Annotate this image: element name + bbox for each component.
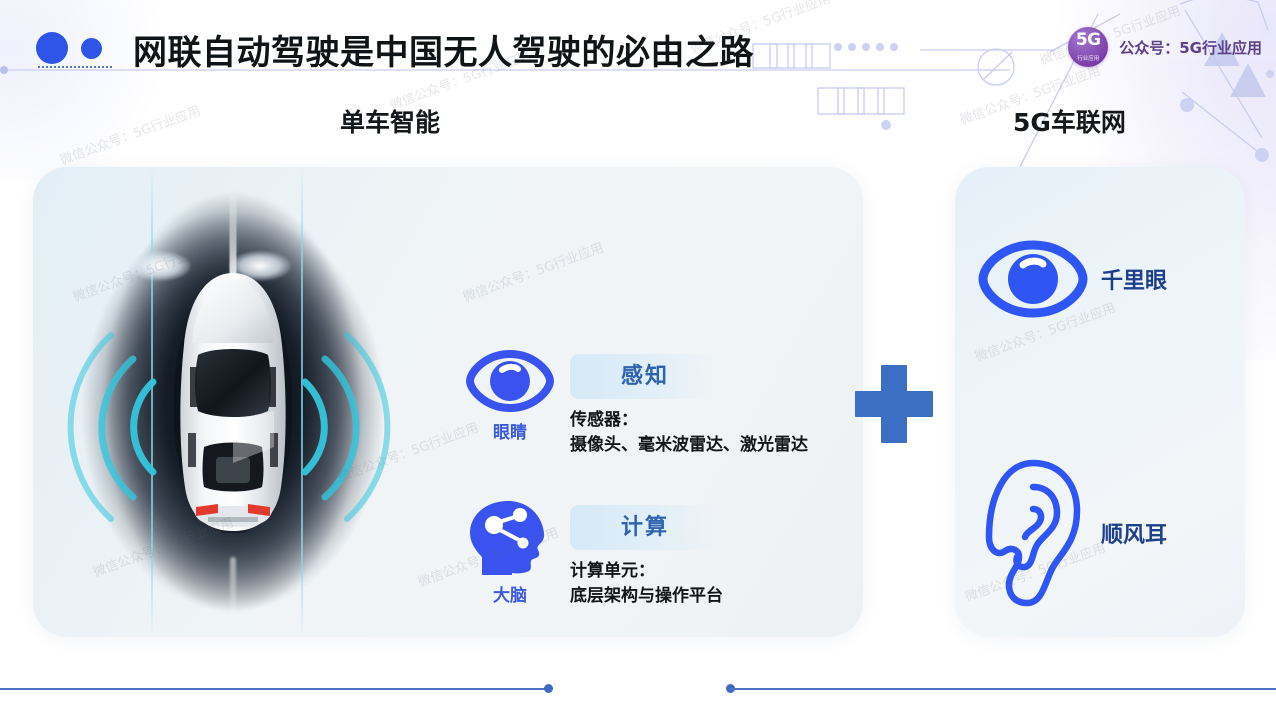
left-column-heading: 单车智能 [340, 103, 440, 139]
feature-line-2: 底层架构与操作平台 [570, 584, 863, 609]
car-illustration [33, 167, 433, 637]
feature-body: 感知 传感器： 摄像头、毫米波雷达、激光雷达 [570, 354, 863, 458]
page-title: 网联自动驾驶是中国无人驾驶的必由之路 [133, 25, 754, 74]
single-vehicle-intelligence-panel: 眼睛 感知 传感器： 摄像头、毫米波雷达、激光雷达 [33, 167, 863, 637]
feature-line-1: 计算单元： [570, 559, 863, 584]
wechat-account-text: 公众号：5G行业应用 [1119, 37, 1262, 58]
right-item-clairvoyance: 千里眼 [977, 237, 1167, 321]
feature-icon-label: 眼睛 [458, 418, 562, 443]
plus-operator [855, 365, 933, 443]
5g-logo-main: 5G [1068, 32, 1108, 49]
bullet-dot-small [81, 38, 102, 59]
eye-icon [466, 348, 554, 414]
feature-icon-block: 大脑 [458, 499, 562, 606]
bottom-rule-dot-left [544, 684, 553, 693]
bottom-rule-left [0, 688, 548, 690]
feature-list: 眼睛 感知 传感器： 摄像头、毫米波雷达、激光雷达 [458, 348, 863, 637]
bottom-rule-right [730, 688, 1276, 690]
eye-icon [977, 237, 1089, 321]
feature-row-compute: 大脑 计算 计算单元： 底层架构与操作平台 [458, 499, 863, 637]
ear-icon [977, 457, 1089, 609]
right-item-clairaudience: 顺风耳 [977, 457, 1167, 609]
feature-line-2: 摄像头、毫米波雷达、激光雷达 [570, 433, 863, 458]
car-top-view [174, 271, 292, 533]
feature-badge: 感知 [570, 354, 720, 399]
right-column-heading: 5G车联网 [1013, 103, 1126, 139]
5g-logo-sub: 行业应用 [1068, 57, 1108, 63]
feature-row-perception: 眼睛 感知 传感器： 摄像头、毫米波雷达、激光雷达 [458, 348, 863, 499]
watermark: 微信公众号：5G行业应用 [460, 237, 606, 306]
slide-root: 网联自动驾驶是中国无人驾驶的必由之路 5G 行业应用 公众号：5G行业应用 单车… [0, 0, 1276, 718]
watermark: 微信公众号：5G行业应用 [57, 100, 203, 169]
5g-logo-icon: 5G 行业应用 [1068, 27, 1108, 67]
feature-line-1: 传感器： [570, 408, 863, 433]
wechat-account-badge: 5G 行业应用 公众号：5G行业应用 [1068, 27, 1262, 67]
feature-badge: 计算 [570, 505, 720, 550]
right-item-label: 顺风耳 [1101, 517, 1167, 549]
plus-bar-vertical [881, 365, 907, 443]
feature-icon-block: 眼睛 [458, 348, 562, 443]
v2x-network-panel: 千里眼 顺风耳 微信公众号：5G行业应用 微信公众号：5G行业应用 [955, 167, 1245, 637]
feature-icon-label: 大脑 [458, 581, 562, 606]
bullet-underline [38, 66, 112, 68]
right-item-label: 千里眼 [1101, 263, 1167, 295]
slide-header: 网联自动驾驶是中国无人驾驶的必由之路 5G 行业应用 公众号：5G行业应用 [0, 0, 1276, 95]
title-bullet-dots [36, 32, 102, 64]
brain-head-icon [468, 499, 552, 577]
bullet-dot-large [36, 32, 68, 64]
feature-body: 计算 计算单元： 底层架构与操作平台 [570, 505, 863, 609]
